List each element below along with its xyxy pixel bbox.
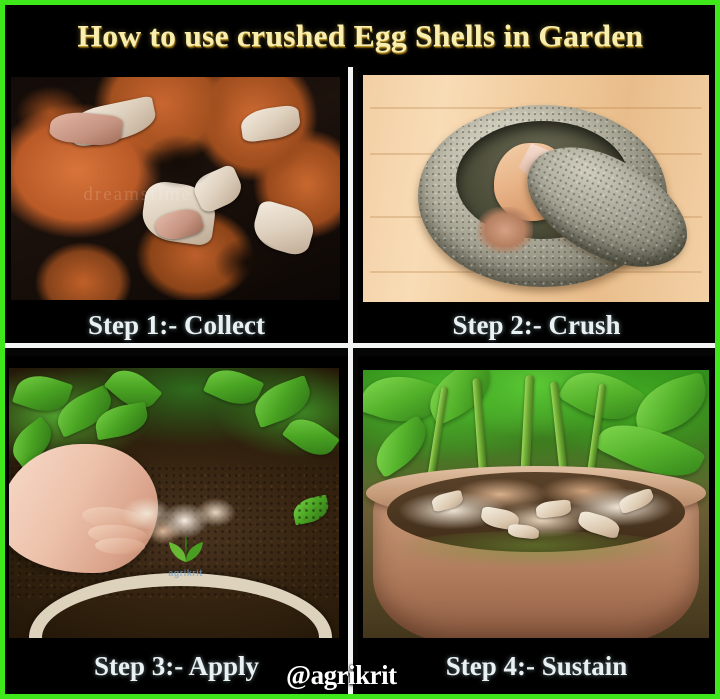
- handle-watermark: @agrikrit: [286, 660, 397, 691]
- eggshell-shard: [239, 104, 302, 143]
- photo-collect-eggshells: dreamstime: [11, 77, 340, 300]
- agrikrit-logo-watermark: agrikrit: [158, 535, 214, 579]
- panel-step-3: agrikrit Step 3:- Apply: [5, 356, 348, 694]
- panel-step-4: Step 4:- Sustain: [358, 356, 715, 694]
- crushed-shell-crumbs: [477, 207, 532, 253]
- divider-vertical: [348, 67, 353, 694]
- infographic-root: How to use crushed Egg Shells in Garden …: [0, 0, 720, 699]
- photo-eggshell-mulch-pot: [363, 370, 709, 638]
- title-bar: How to use crushed Egg Shells in Garden: [5, 5, 715, 67]
- caption-step-2: Step 2:- Crush: [358, 302, 715, 348]
- caption-step-1: Step 1:- Collect: [5, 302, 348, 348]
- shadow-gap: [215, 238, 281, 287]
- panel-step-2: Step 2:- Crush: [358, 67, 715, 348]
- page-title: How to use crushed Egg Shells in Garden: [77, 18, 643, 54]
- plant-leaf: [365, 415, 436, 479]
- plant-leaf: [282, 410, 339, 463]
- agrikrit-logo-text: agrikrit: [158, 568, 214, 578]
- leaf-logo-icon: [166, 535, 206, 563]
- stock-photo-watermark: dreamstime: [83, 184, 192, 206]
- divider-horizontal: [5, 343, 715, 348]
- photo-apply-to-soil: agrikrit: [9, 368, 339, 638]
- caption-step-4: Step 4:- Sustain: [358, 640, 715, 694]
- shadow-gap: [143, 135, 215, 189]
- plant-leaf: [419, 370, 500, 426]
- panel-step-1: dreamstime Step 1:- Collect: [5, 67, 348, 348]
- photo-mortar-and-pestle: [363, 75, 709, 303]
